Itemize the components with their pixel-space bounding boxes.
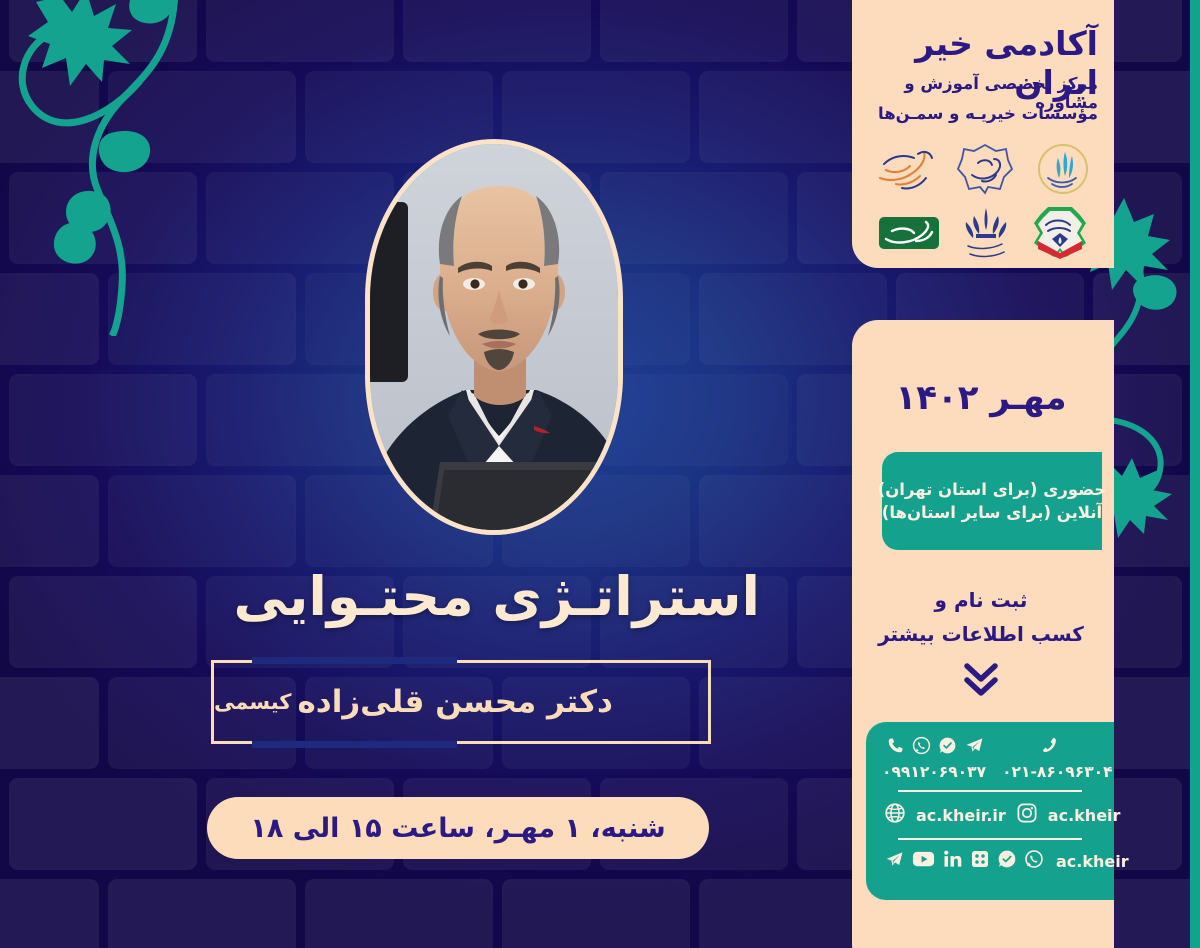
phone-icon-landline[interactable] <box>1041 735 1060 759</box>
brick <box>600 374 788 466</box>
partner-logos-row-1 <box>860 140 1106 198</box>
attendance-mode-box: حضوری (برای استان تهران) آنلاین (برای سا… <box>882 452 1102 550</box>
linkedin-icon[interactable] <box>942 849 963 873</box>
khayer-mandegar-logo <box>874 144 936 194</box>
social-row: ac.kheir <box>880 846 1100 876</box>
partner-logos-row-2 <box>860 200 1106 266</box>
leaf-vine-decoration-left <box>0 0 220 340</box>
speaker-box-top-gap <box>252 657 457 664</box>
contact-icons-row <box>880 734 1100 760</box>
event-datetime-label: شنبه، ۱ مهـر، ساعت ۱۵ الی ۱۸ <box>250 813 665 844</box>
payam-e-omid-logo <box>956 143 1014 195</box>
brick <box>108 879 296 948</box>
attendance-mode-online: آنلاین (برای سایر استان‌ها) <box>882 503 1102 522</box>
instagram-icon[interactable] <box>1016 802 1038 828</box>
brick <box>0 677 99 769</box>
brick <box>0 273 99 365</box>
brick <box>108 273 296 365</box>
bale-icon[interactable] <box>970 849 990 873</box>
eitaa-icon[interactable] <box>997 849 1017 873</box>
brick <box>305 879 493 948</box>
brick <box>0 71 99 163</box>
chevron-double-down-icon[interactable] <box>852 660 1110 706</box>
brick <box>9 374 197 466</box>
youtube-icon[interactable] <box>912 850 935 872</box>
whatsapp-icon[interactable] <box>912 736 931 759</box>
telegram-icon[interactable] <box>884 850 905 873</box>
cta-line-2: کسب اطلاعات بیشتر <box>852 622 1110 646</box>
landline-number[interactable]: ۰۲۱-۸۶۰۹۶۳۰۴ <box>1002 763 1113 781</box>
brick <box>108 475 296 567</box>
green-charity-logo <box>878 213 940 253</box>
contact-card: ۰۹۹۱۲۰۶۹۰۳۷ ۰۲۱-۸۶۰۹۶۳۰۴ ac.kheir.ir <box>866 722 1114 900</box>
brick <box>600 172 788 264</box>
mobile-number[interactable]: ۰۹۹۱۲۰۶۹۰۳۷ <box>882 763 986 781</box>
cta-line-1: ثبت نام و <box>852 588 1110 612</box>
brick <box>9 778 197 870</box>
event-poster: استراتـژی محتـوایی دکتر محسن قلی‌زاده کی… <box>0 0 1200 948</box>
brick <box>502 879 690 948</box>
brick <box>0 475 99 567</box>
brick <box>403 0 591 62</box>
attendance-mode-in-person: حضوری (برای استان تهران) <box>878 480 1107 499</box>
brick <box>0 879 99 948</box>
event-title: استراتـژی محتـوایی <box>60 565 760 628</box>
brick <box>600 0 788 62</box>
speaker-name-box: دکتر محسن قلی‌زاده کیسمی <box>211 660 711 744</box>
brick <box>206 0 394 62</box>
social-handle-label[interactable]: ac.kheir <box>1056 852 1129 871</box>
speaker-portrait-photo <box>370 144 618 530</box>
speaker-box-bottom-gap <box>252 741 457 748</box>
contact-divider-2 <box>898 838 1082 840</box>
bonyad-logo <box>1034 142 1092 196</box>
brick <box>9 172 197 264</box>
brick <box>9 0 197 62</box>
national-emblem-logo <box>1032 205 1088 261</box>
speaker-name: دکتر محسن قلی‌زاده <box>297 684 612 720</box>
brand-subtitle-2: مؤسسات خیریـه و سمـن‌ها <box>852 104 1110 123</box>
speaker-portrait-frame <box>365 139 623 535</box>
web-row: ac.kheir.ir ac.kheir <box>880 798 1100 832</box>
phone-icon[interactable] <box>886 736 905 759</box>
event-datetime-badge: شنبه، ۱ مهـر، ساعت ۱۵ الی ۱۸ <box>207 797 709 859</box>
whatsapp-icon[interactable] <box>1024 849 1044 873</box>
brick <box>206 172 394 264</box>
contact-divider-1 <box>898 790 1082 792</box>
globe-icon[interactable] <box>884 802 906 828</box>
bale-icon[interactable] <box>938 736 957 759</box>
instagram-handle-label[interactable]: ac.kheir <box>1048 806 1121 825</box>
website-label[interactable]: ac.kheir.ir <box>916 806 1006 825</box>
teal-edge-rail <box>1190 0 1200 948</box>
speaker-lastname: کیسمی <box>214 690 291 714</box>
brick <box>108 71 296 163</box>
phone-numbers-row: ۰۹۹۱۲۰۶۹۰۳۷ ۰۲۱-۸۶۰۹۶۳۰۴ <box>880 760 1100 784</box>
ministry-of-interior-tehran-logo <box>960 204 1012 262</box>
telegram-icon[interactable] <box>964 736 985 759</box>
month-year-heading: مهـر ۱۴۰۲ <box>852 378 1110 418</box>
